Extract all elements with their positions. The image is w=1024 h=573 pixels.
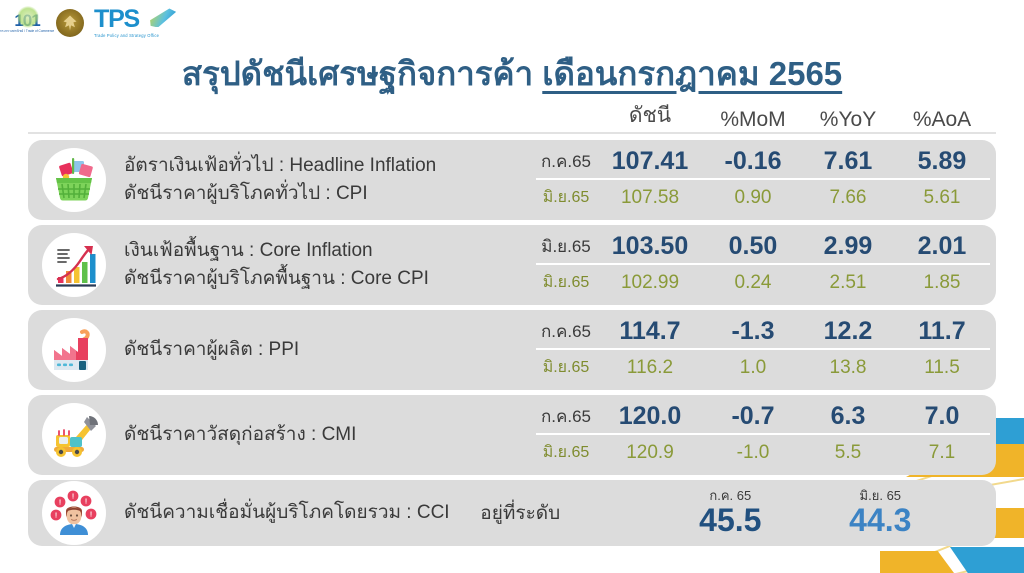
row-icon-cell: ! ! ! ! ! [28, 480, 120, 546]
row-icon-cell [28, 225, 120, 305]
previous-aoa: 11.5 [894, 357, 990, 379]
previous-yoy: 2.51 [802, 272, 894, 294]
tpso-text: TPS [94, 5, 139, 33]
cci-previous-value: 44.3 [805, 504, 955, 538]
svg-text:!: ! [72, 494, 74, 501]
column-header-mom: %MoM [704, 108, 802, 132]
row-label-cell: เงินเฟ้อพื้นฐาน : Core Inflation ดัชนีรา… [120, 225, 536, 305]
row-values-cell: ก.ค.65 107.41 -0.16 7.61 5.89 มิ.ย.65 10… [536, 140, 996, 220]
cci-previous: มิ.ย. 65 44.3 [805, 489, 955, 537]
current-mom: -1.3 [704, 317, 802, 346]
row-label-cell: ดัชนีความเชื่อมั่นผู้บริโภคโดยรวม : CCI [120, 480, 480, 546]
current-period: ก.ค.65 [536, 148, 596, 175]
logo-101-subtext: กระทรวงพาณิชย์ / Trade of Commerce [0, 30, 54, 34]
current-index: 114.7 [596, 317, 704, 346]
previous-yoy: 7.66 [802, 187, 894, 209]
current-index: 103.50 [596, 232, 704, 261]
table-row[interactable]: อัตราเงินเฟ้อทั่วไป : Headline Inflation… [28, 140, 996, 220]
deco-gold-ribbon [880, 551, 954, 573]
svg-text:!: ! [85, 499, 87, 506]
current-aoa: 11.7 [894, 317, 990, 346]
current-aoa: 2.01 [894, 232, 990, 261]
excavator-icon [42, 403, 106, 467]
cci-previous-period: มิ.ย. 65 [805, 489, 955, 503]
previous-index: 102.99 [596, 272, 704, 294]
row-previous-values: มิ.ย.65 107.58 0.90 7.66 5.61 [536, 180, 990, 215]
row-current-values: ก.ค.65 120.0 -0.7 6.3 7.0 [536, 400, 990, 435]
previous-period: มิ.ย.65 [536, 440, 596, 465]
consumer-confidence-icon: ! ! ! ! ! [42, 481, 106, 545]
svg-text:!: ! [55, 513, 57, 520]
cci-current-value: 45.5 [655, 504, 805, 538]
logo-bar: 101 กระทรวงพาณิชย์ / Trade of Commerce T… [8, 4, 159, 42]
previous-period: มิ.ย.65 [536, 355, 596, 380]
page-title-period: เดือนกรกฎาคม 2565 [542, 55, 842, 92]
current-index: 107.41 [596, 147, 704, 176]
table-row[interactable]: เงินเฟ้อพื้นฐาน : Core Inflation ดัชนีรา… [28, 225, 996, 305]
row-current-values: มิ.ย.65 103.50 0.50 2.99 2.01 [536, 230, 990, 265]
current-yoy: 2.99 [802, 232, 894, 261]
table-row-cci[interactable]: ! ! ! ! ! [28, 480, 996, 546]
current-yoy: 7.61 [802, 147, 894, 176]
row-name-line1: ดัชนีราคาวัสดุก่อสร้าง : CMI [124, 421, 536, 449]
previous-mom: -1.0 [704, 442, 802, 464]
row-icon-cell [28, 140, 120, 220]
current-mom: -0.7 [704, 402, 802, 431]
column-header-aoa: %AoA [894, 108, 990, 132]
previous-period: มิ.ย.65 [536, 185, 596, 210]
cci-current: ก.ค. 65 45.5 [655, 489, 805, 537]
current-index: 120.0 [596, 402, 704, 431]
page-title: สรุปดัชนีเศรษฐกิจการค้า เดือนกรกฎาคม 256… [0, 47, 1024, 100]
row-name-line2: ดัชนีราคาผู้บริโภคทั่วไป : CPI [124, 180, 536, 208]
ministry-101-logo-icon: 101 กระทรวงพาณิชย์ / Trade of Commerce [8, 6, 46, 40]
current-mom: -0.16 [704, 147, 802, 176]
column-header-yoy: %YoY [802, 108, 894, 132]
row-previous-values: มิ.ย.65 102.99 0.24 2.51 1.85 [536, 265, 990, 300]
current-yoy: 12.2 [802, 317, 894, 346]
row-current-values: ก.ค.65 107.41 -0.16 7.61 5.89 [536, 145, 990, 180]
deco-line [878, 556, 1024, 573]
factory-icon [42, 318, 106, 382]
tpso-swoosh-icon [150, 8, 176, 27]
previous-mom: 1.0 [704, 357, 802, 379]
row-name-line2: ดัชนีราคาผู้บริโภคพื้นฐาน : Core CPI [124, 265, 536, 293]
table-column-headers: ดัชนี %MoM %YoY %AoA [28, 104, 996, 134]
garuda-emblem-icon [56, 9, 84, 37]
svg-text:!: ! [90, 512, 92, 519]
tpso-logo: TPS Trade Policy and Strategy Office [94, 7, 159, 38]
previous-yoy: 13.8 [802, 357, 894, 379]
row-name-line1: อัตราเงินเฟ้อทั่วไป : Headline Inflation [124, 152, 536, 180]
row-values-cell: มิ.ย.65 103.50 0.50 2.99 2.01 มิ.ย.65 10… [536, 225, 996, 305]
row-previous-values: มิ.ย.65 120.9 -1.0 5.5 7.1 [536, 435, 990, 470]
current-period: มิ.ย.65 [536, 233, 596, 260]
previous-mom: 0.90 [704, 187, 802, 209]
tpso-subtitle: Trade Policy and Strategy Office [94, 34, 159, 38]
indicator-table: ดัชนี %MoM %YoY %AoA [28, 104, 996, 551]
table-row[interactable]: ดัชนีราคาผู้ผลิต : PPI ก.ค.65 114.7 -1.3… [28, 310, 996, 390]
previous-yoy: 5.5 [802, 442, 894, 464]
cci-values-cell: อยู่ที่ระดับ ก.ค. 65 45.5 มิ.ย. 65 44.3 [480, 480, 996, 546]
row-previous-values: มิ.ย.65 116.2 1.0 13.8 11.5 [536, 350, 990, 385]
current-aoa: 7.0 [894, 402, 990, 431]
row-current-values: ก.ค.65 114.7 -1.3 12.2 11.7 [536, 315, 990, 350]
current-aoa: 5.89 [894, 147, 990, 176]
current-mom: 0.50 [704, 232, 802, 261]
cci-current-period: ก.ค. 65 [655, 489, 805, 503]
logo-halo-icon [17, 6, 39, 28]
shopping-basket-icon [42, 148, 106, 212]
previous-mom: 0.24 [704, 272, 802, 294]
row-label-cell: ดัชนีราคาวัสดุก่อสร้าง : CMI [120, 395, 536, 475]
row-label-cell: ดัชนีราคาผู้ผลิต : PPI [120, 310, 536, 390]
previous-period: มิ.ย.65 [536, 270, 596, 295]
previous-aoa: 5.61 [894, 187, 990, 209]
cci-level-label: อยู่ที่ระดับ [480, 498, 655, 528]
previous-index: 120.9 [596, 442, 704, 464]
svg-text:!: ! [59, 500, 61, 507]
growth-bar-chart-icon [42, 233, 106, 297]
current-yoy: 6.3 [802, 402, 894, 431]
row-icon-cell [28, 395, 120, 475]
row-label-cell: อัตราเงินเฟ้อทั่วไป : Headline Inflation… [120, 140, 536, 220]
previous-aoa: 1.85 [894, 272, 990, 294]
previous-aoa: 7.1 [894, 442, 990, 464]
tpso-wordmark: TPS [94, 7, 159, 32]
row-values-cell: ก.ค.65 120.0 -0.7 6.3 7.0 มิ.ย.65 120.9 … [536, 395, 996, 475]
table-row[interactable]: ดัชนีราคาวัสดุก่อสร้าง : CMI ก.ค.65 120.… [28, 395, 996, 475]
column-header-index: ดัชนี [596, 99, 704, 132]
row-icon-cell [28, 310, 120, 390]
current-period: ก.ค.65 [536, 318, 596, 345]
previous-index: 116.2 [596, 357, 704, 379]
row-name-line1: ดัชนีราคาผู้ผลิต : PPI [124, 336, 536, 364]
page-title-main: สรุปดัชนีเศรษฐกิจการค้า [182, 55, 533, 92]
row-name-line1: เงินเฟ้อพื้นฐาน : Core Inflation [124, 237, 536, 265]
previous-index: 107.58 [596, 187, 704, 209]
row-values-cell: ก.ค.65 114.7 -1.3 12.2 11.7 มิ.ย.65 116.… [536, 310, 996, 390]
current-period: ก.ค.65 [536, 403, 596, 430]
row-name-cci: ดัชนีความเชื่อมั่นผู้บริโภคโดยรวม : CCI [124, 499, 480, 527]
